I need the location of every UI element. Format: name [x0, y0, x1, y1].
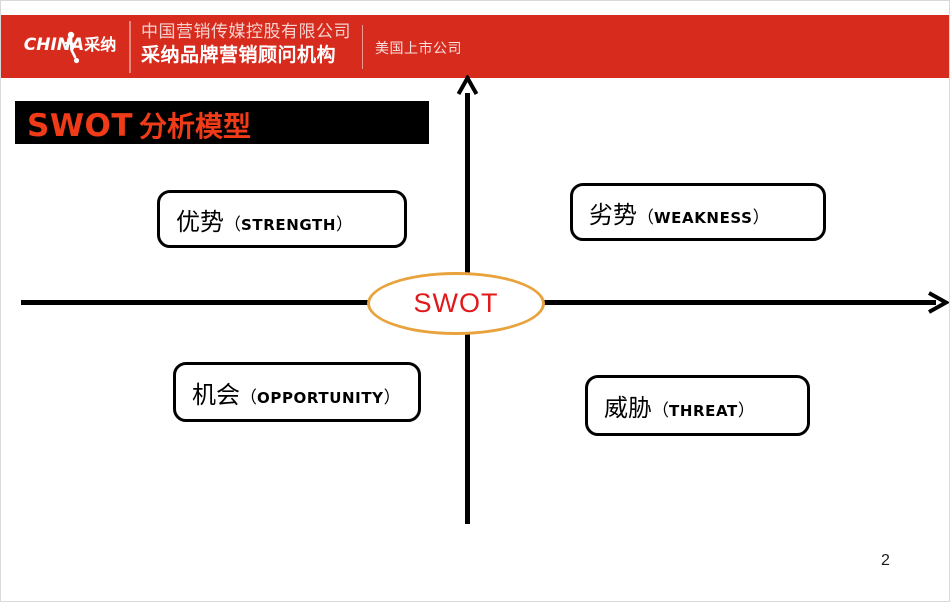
listed-company-tag: 美国上市公司	[375, 38, 462, 58]
arrow-up-icon	[456, 75, 479, 97]
quadrant-label-opportunity: 机会（OPPORTUNITY）	[176, 375, 401, 410]
page-title-cjk: 分析模型	[139, 110, 251, 143]
quadrant-english-opportunity: OPPORTUNITY	[257, 389, 384, 407]
arrow-right-icon	[926, 291, 949, 314]
quadrant-box-weakness[interactable]: 劣势（WEAKNESS）	[570, 183, 826, 241]
company-name-block: 中国营销传媒控股有限公司 采纳品牌营销顾问机构	[141, 21, 356, 68]
quadrant-box-opportunity[interactable]: 机会（OPPORTUNITY）	[173, 362, 421, 422]
logo-divider	[129, 21, 131, 73]
paren-open-weakness: （	[637, 208, 654, 228]
quadrant-label-strength: 优势（STRENGTH）	[160, 202, 353, 237]
paren-open-opportunity: （	[240, 388, 257, 408]
paren-close-opportunity: ）	[384, 388, 401, 408]
page-title: SWOT分析模型	[27, 105, 251, 145]
quadrant-english-weakness: WEAKNESS	[654, 209, 753, 227]
center-ellipse-swot[interactable]: SWOT	[367, 272, 545, 335]
paren-close-weakness: ）	[753, 208, 770, 228]
header-divider	[362, 25, 363, 69]
page-number: 2	[881, 552, 890, 570]
quadrant-cjk-weakness: 劣势	[589, 201, 637, 229]
center-ellipse-label: SWOT	[414, 288, 499, 319]
quadrant-label-threat: 威胁（THREAT）	[588, 388, 755, 423]
quadrant-cjk-strength: 优势	[176, 208, 224, 236]
paren-close-threat: ）	[738, 401, 755, 421]
slide-canvas: CHINA采纳 中国营销传媒控股有限公司 采纳品牌营销顾问机构 美国上市公司 S…	[0, 0, 950, 602]
paren-open-strength: （	[224, 215, 241, 235]
running-person-icon	[64, 31, 80, 65]
quadrant-cjk-opportunity: 机会	[192, 381, 240, 409]
paren-open-threat: （	[652, 401, 669, 421]
page-title-latin: SWOT	[27, 108, 133, 144]
quadrant-cjk-threat: 威胁	[604, 394, 652, 422]
quadrant-english-strength: STRENGTH	[241, 216, 336, 234]
quadrant-english-threat: THREAT	[669, 402, 738, 420]
quadrant-box-threat[interactable]: 威胁（THREAT）	[585, 375, 810, 436]
paren-close-strength: ）	[336, 215, 353, 235]
company-holding-name: 中国营销传媒控股有限公司	[141, 21, 356, 43]
quadrant-box-strength[interactable]: 优势（STRENGTH）	[157, 190, 407, 248]
logo-cjk-text: 采纳	[84, 35, 116, 54]
company-agency-name: 采纳品牌营销顾问机构	[141, 43, 356, 68]
quadrant-label-weakness: 劣势（WEAKNESS）	[573, 195, 770, 230]
